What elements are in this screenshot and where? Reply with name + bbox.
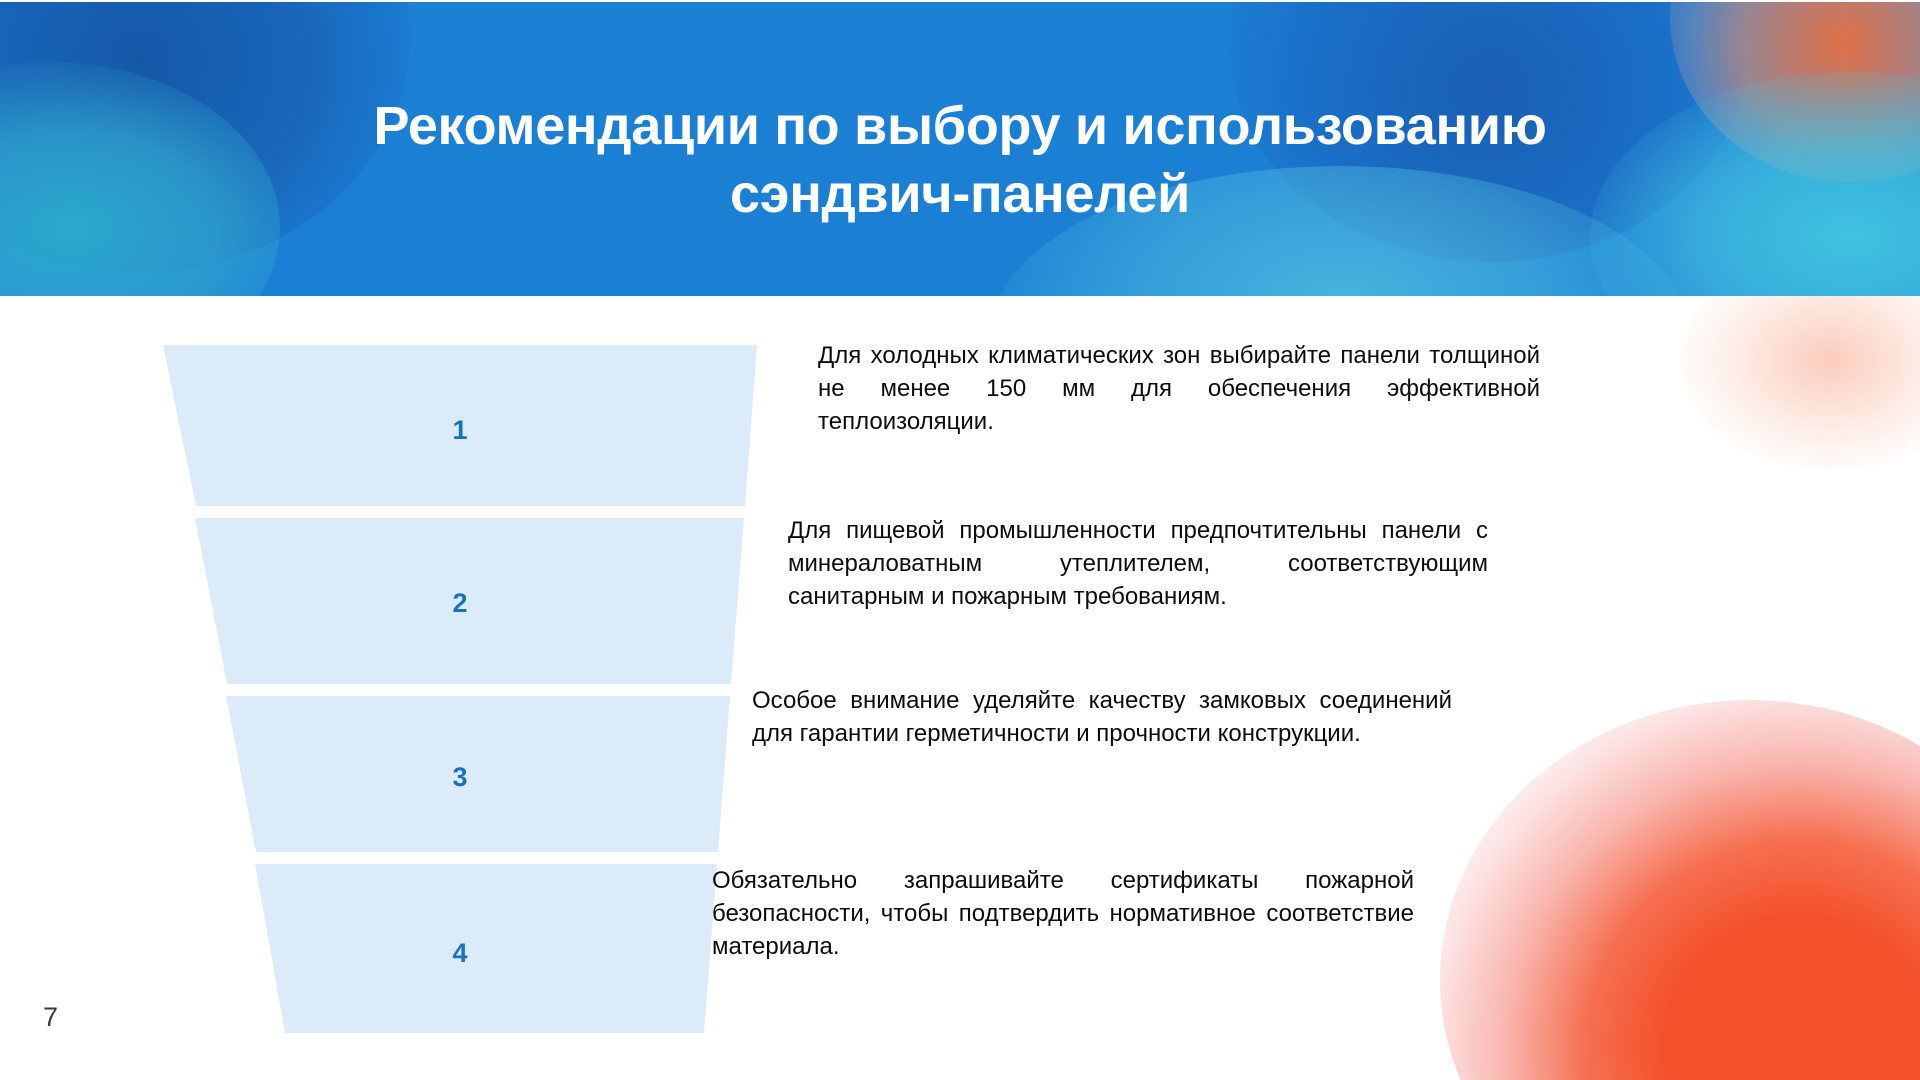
recommendation-text-3: Особое внимание уделяйте качеству замков… — [752, 684, 1452, 750]
funnel-segment-3-number: 3 — [430, 762, 490, 793]
funnel-segment-1-number: 1 — [430, 415, 490, 446]
recommendation-text-2: Для пищевой промышленности предпочтитель… — [788, 514, 1488, 613]
recommendation-text-1: Для холодных климатических зон выбирайте… — [818, 339, 1540, 438]
funnel-segment-4-number: 4 — [430, 938, 490, 969]
funnel-segment-2-number: 2 — [430, 588, 490, 619]
slide-canvas: Рекомендации по выбору и использованию с… — [0, 0, 1920, 1080]
recommendation-text-4: Обязательно запрашивайте сертификаты пож… — [712, 864, 1414, 963]
page-number: 7 — [43, 1002, 58, 1033]
